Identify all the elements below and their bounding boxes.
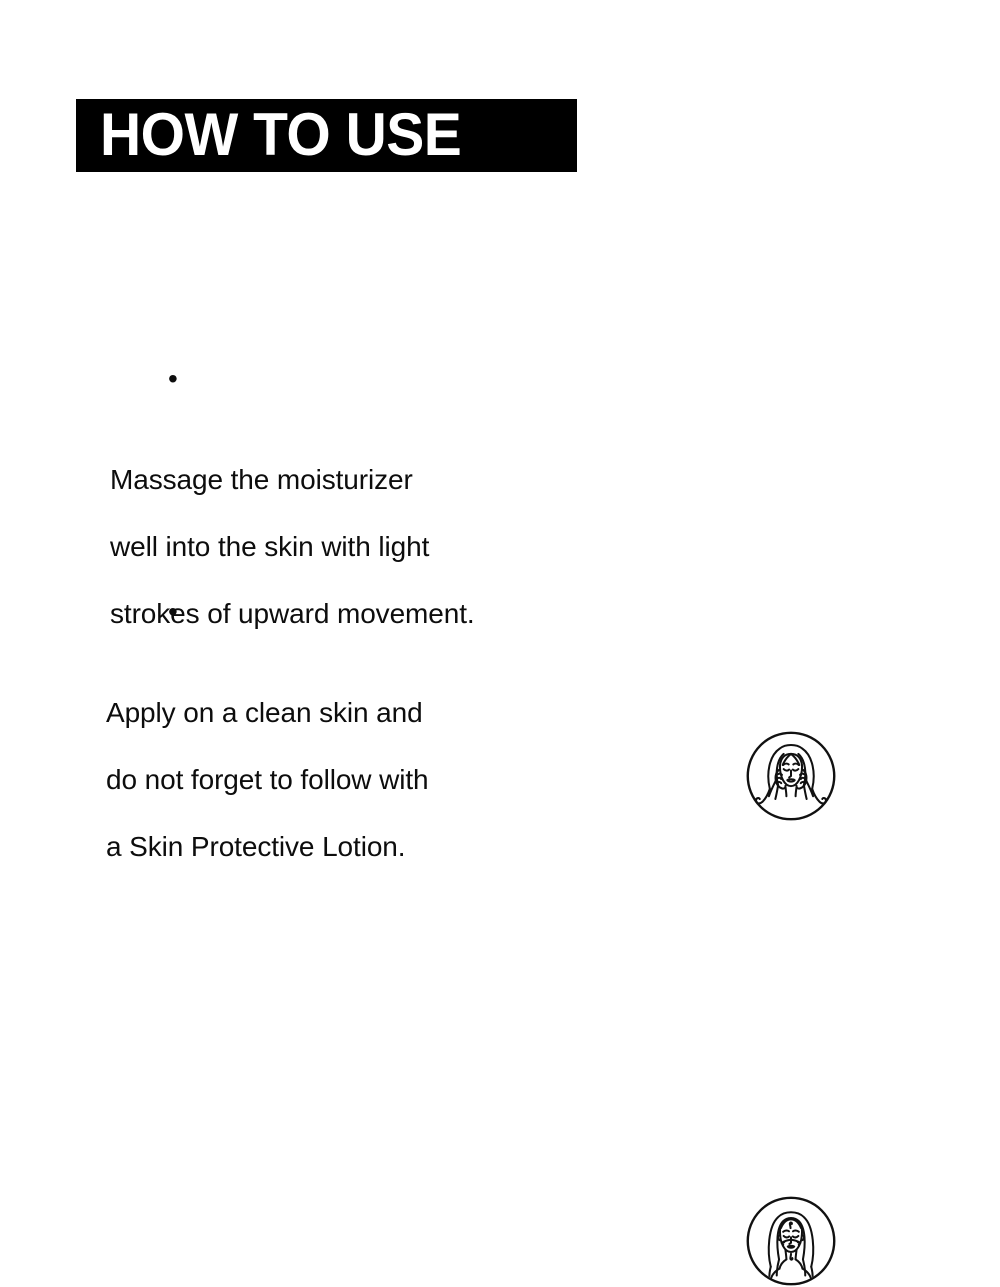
- instruction-lines-2: Apply on a clean skin and do not forget …: [106, 662, 644, 897]
- instruction-text-2: • Apply on a clean skin and do not forge…: [84, 595, 644, 930]
- face-cream-application-icon: [745, 1195, 837, 1287]
- header-banner: HOW TO USE: [76, 99, 577, 172]
- instruction-line: a Skin Protective Lotion.: [106, 830, 644, 864]
- bullet-point-icon: •: [168, 595, 178, 629]
- face-massage-icon: [745, 730, 837, 822]
- bullet-point-icon: •: [168, 362, 178, 396]
- instruction-line: well into the skin with light: [110, 530, 644, 564]
- how-to-use-panel: HOW TO USE • Massage the moisturizer wel…: [0, 0, 1000, 1000]
- instruction-line: Massage the moisturizer: [110, 463, 644, 497]
- page-title: HOW TO USE: [100, 105, 461, 165]
- instruction-line: do not forget to follow with: [106, 763, 644, 797]
- instruction-line: Apply on a clean skin and: [106, 696, 644, 730]
